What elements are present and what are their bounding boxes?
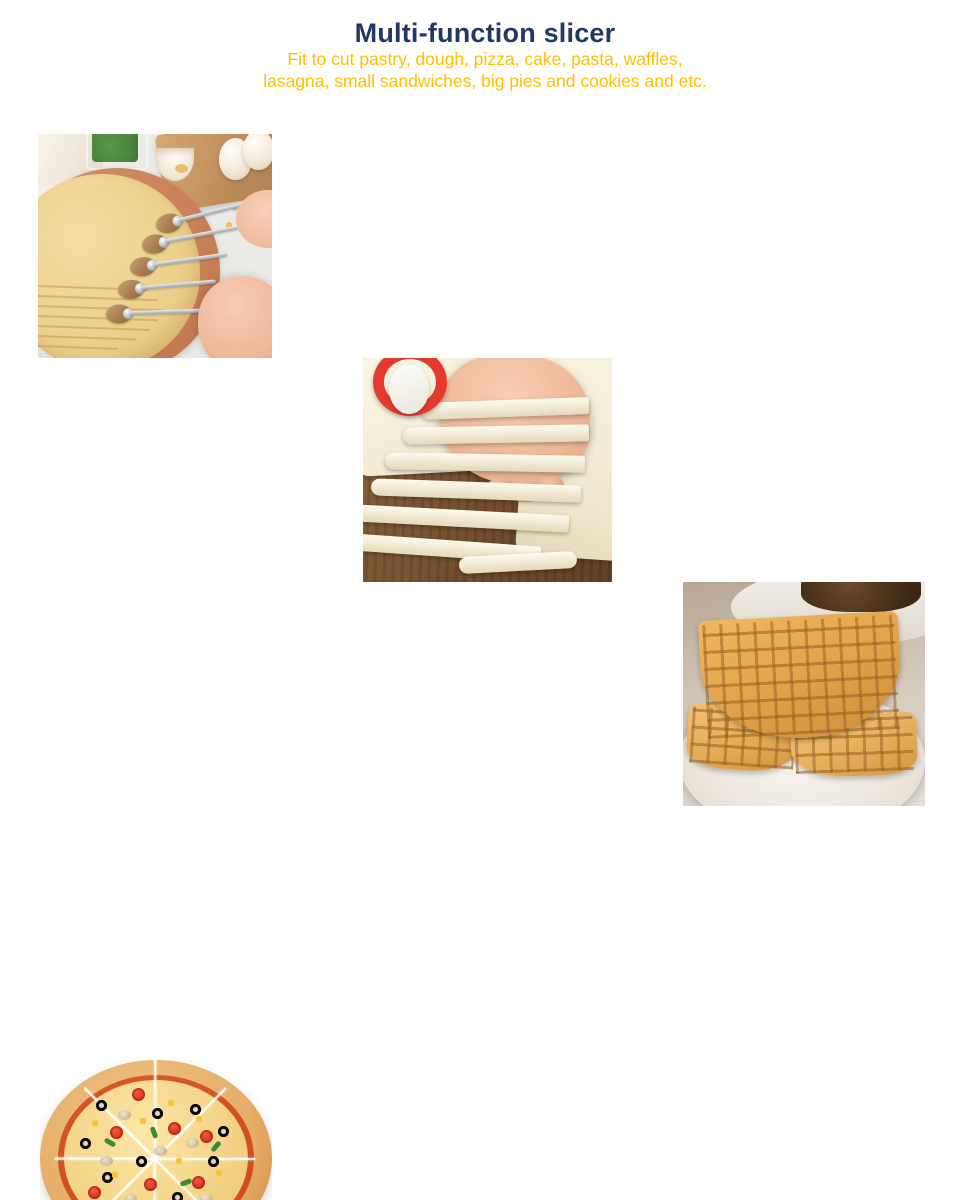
olive-topping [136,1156,147,1167]
dough-strip [385,452,585,472]
olive-topping [172,1192,183,1200]
page-title: Multi-function slicer [0,18,970,48]
corn-topping [176,1158,182,1164]
olive-topping [152,1108,163,1119]
egg [243,134,272,170]
mushroom-topping [200,1194,213,1200]
corn-topping [92,1120,98,1126]
mushroom-topping [100,1156,113,1166]
mushroom-topping [118,1110,131,1120]
background-food [801,582,921,612]
olive-topping [218,1126,229,1137]
product-banner: Multi-function slicer Fit to cut pastry,… [0,0,970,600]
subtitle-line-1: Fit to cut pastry, dough, pizza, cake, p… [0,48,970,71]
mushroom-topping [154,1146,167,1156]
tomato-topping [110,1126,123,1139]
olive-topping [96,1100,107,1111]
olive-topping [80,1138,91,1149]
dough-strip [403,424,589,444]
subtitle-line-2: lasagna, small sandwiches, big pies and … [0,70,970,93]
photo-sliced-pizza [40,1060,272,1200]
waffle-quarter [698,611,904,743]
tomato-topping [168,1122,181,1135]
corn-topping [168,1100,174,1106]
photo-slicer-cutting-pasta-dough [38,134,272,358]
photo-waffle-quarters-on-plate [683,582,925,806]
corn-topping [216,1170,222,1176]
tomato-topping [132,1088,145,1101]
mushroom-topping [186,1138,199,1148]
tomato-topping [88,1186,101,1199]
photo-hand-lifting-dough-strips [363,358,612,582]
corn-topping [112,1172,118,1178]
waffle-grid [702,615,900,739]
corn-topping [140,1118,146,1124]
fresh-herbs [92,134,138,162]
corn-topping [196,1116,202,1122]
tomato-topping [192,1176,205,1189]
slicer-white-handle [389,364,429,414]
hand-holding-slicer [198,276,272,358]
tomato-topping [144,1178,157,1191]
pizza-slice-cut [155,1158,255,1160]
olive-topping [208,1156,219,1167]
egg-yolk [175,164,188,173]
mushroom-topping [124,1194,137,1200]
olive-topping [190,1104,201,1115]
tomato-topping [200,1130,213,1143]
banner-header: Multi-function slicer Fit to cut pastry,… [0,18,970,93]
